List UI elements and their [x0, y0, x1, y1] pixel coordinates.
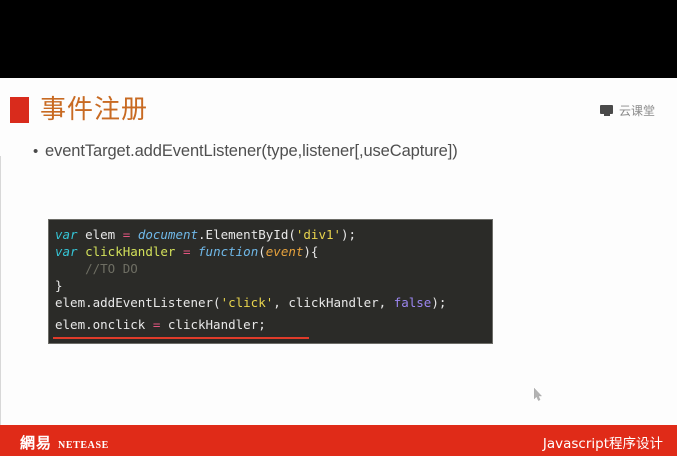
code-token: elem.onclick [55, 317, 153, 332]
bullet-item: • eventTarget.addEventListener(type,list… [33, 142, 458, 161]
slide-root: 事件注册 云课堂 • eventTarget.addEventListener(… [0, 0, 677, 456]
code-token: } [55, 278, 63, 293]
code-token: var [55, 244, 85, 259]
code-token: ); [341, 227, 356, 242]
code-snippet-block: var elem = document.ElementById('div1');… [48, 219, 493, 344]
netease-logo-en: NETEASE [58, 440, 109, 451]
code-token: = [153, 317, 168, 332]
code-token: elem [85, 227, 123, 242]
code-token: false [394, 295, 432, 310]
code-token: clickHandler; [168, 317, 266, 332]
slide-content-area: 事件注册 云课堂 • eventTarget.addEventListener(… [0, 78, 677, 425]
brand-logo: 云课堂 [600, 102, 655, 119]
code-line: var clickHandler = function(event){ [55, 243, 492, 260]
footer-bar: 網易 NETEASE Javascript程序设计 [0, 425, 677, 456]
code-line: elem.addEventListener('click', clickHand… [55, 294, 492, 311]
bullet-marker-icon: • [33, 143, 45, 160]
code-token: = [183, 244, 198, 259]
code-line: var elem = document.ElementById('div1'); [55, 226, 492, 243]
code-token: ( [258, 244, 266, 259]
code-token: function [198, 244, 258, 259]
code-line: } [55, 277, 492, 294]
title-marker-square [10, 97, 29, 123]
monitor-icon [600, 105, 614, 117]
code-token: //TO DO [55, 261, 138, 276]
code-token: elem.addEventListener( [55, 295, 221, 310]
page-title: 事件注册 [40, 96, 148, 124]
brand-label: 云课堂 [619, 102, 655, 119]
code-token: ); [431, 295, 446, 310]
code-token: event [266, 244, 304, 259]
letterbox-top-bar [0, 0, 677, 78]
code-token: .ElementById( [198, 227, 296, 242]
code-red-underline [53, 337, 309, 339]
code-token: var [55, 227, 85, 242]
netease-logo-cn: 網易 [20, 432, 52, 453]
code-token: = [123, 227, 138, 242]
code-token: 'div1' [296, 227, 341, 242]
code-token: 'click' [221, 295, 274, 310]
code-line: //TO DO [55, 260, 492, 277]
code-token: , clickHandler, [273, 295, 393, 310]
mouse-cursor-icon [534, 388, 544, 402]
bullet-item-label: eventTarget.addEventListener(type,listen… [45, 142, 458, 161]
code-line: elem.onclick = clickHandler; [55, 316, 492, 333]
slide-title-row: 事件注册 [10, 96, 148, 124]
code-token: ){ [303, 244, 318, 259]
netease-logo: 網易 NETEASE [20, 432, 109, 453]
course-title-label: Javascript程序设计 [543, 432, 663, 452]
code-token: document [138, 227, 198, 242]
code-lines-container: var elem = document.ElementById('div1');… [55, 226, 492, 333]
slide-left-edge-line [0, 156, 1, 456]
code-token: clickHandler [85, 244, 183, 259]
